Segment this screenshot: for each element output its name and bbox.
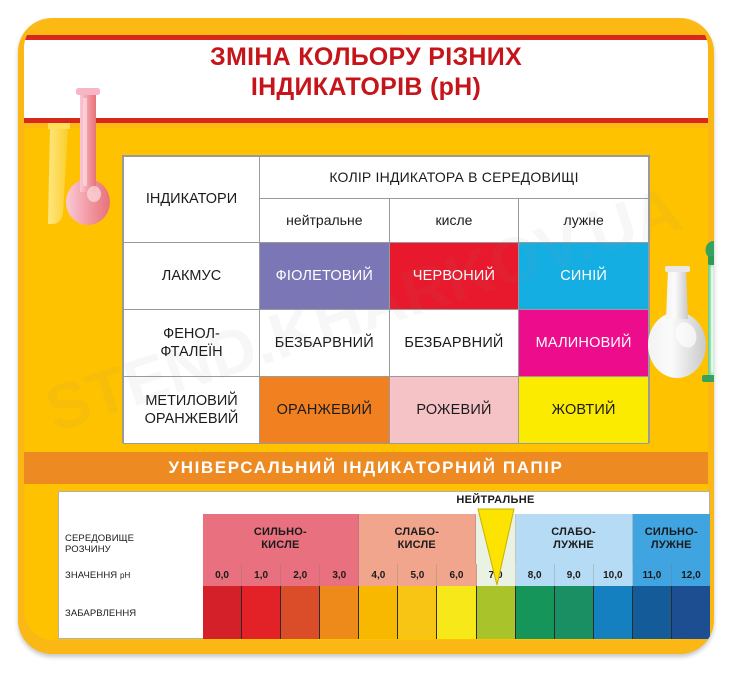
row-label-litmus-text: ЛАКМУС xyxy=(162,268,221,284)
cell-phenolphthalein-alkali: МАЛИНОВИЙ xyxy=(519,310,649,377)
ph-row-label-medium: СЕРЕДОВИЩЕРОЗЧИНУ xyxy=(65,533,134,555)
ph-band-2 xyxy=(476,514,516,564)
cell-methyl-orange-alkali: ЖОВТИЙ xyxy=(519,377,649,444)
header-cell-acid: кисле xyxy=(389,199,519,243)
ph-swatch-10-0 xyxy=(594,586,633,639)
ph-swatch-0-0 xyxy=(203,586,242,639)
cell-litmus-acid: ЧЕРВОНИЙ xyxy=(389,243,519,310)
title-top-orange-stripe xyxy=(24,18,708,35)
header-indicators-label: ІНДИКАТОРИ xyxy=(146,191,237,207)
section-banner-text: УНІВЕРСАЛЬНИЙ ІНДИКАТОРНИЙ ПАПІР xyxy=(169,458,564,478)
ph-scale-panel: СЕРЕДОВИЩЕРОЗЧИНУ ЗНАЧЕННЯ pH ЗАБАРВЛЕНН… xyxy=(58,491,710,639)
ph-value-10-0: 10,0 xyxy=(594,564,633,586)
title-line-1: ЗМІНА КОЛЬОРУ РІЗНИХ xyxy=(24,42,708,72)
table-row: ЛАКМУС ФІОЛЕТОВИЙ ЧЕРВОНИЙ СИНІЙ xyxy=(124,243,649,310)
ph-band-4: СИЛЬНО-ЛУЖНЕ xyxy=(633,514,710,564)
title-band: ЗМІНА КОЛЬОРУ РІЗНИХ ІНДИКАТОРІВ (pH) xyxy=(24,18,708,128)
ph-swatch-7-0 xyxy=(477,586,516,639)
row-label-litmus: ЛАКМУС xyxy=(124,243,260,310)
table-row: МЕТИЛОВИЙОРАНЖЕВИЙ ОРАНЖЕВИЙ РОЖЕВИЙ ЖОВ… xyxy=(124,377,649,444)
ph-swatch-8-0 xyxy=(516,586,555,639)
ph-swatch-1-0 xyxy=(242,586,281,639)
ph-swatch-9-0 xyxy=(555,586,594,639)
ph-value-row: 0,01,02,03,04,05,06,07,08,09,010,011,012… xyxy=(203,564,710,586)
table-row: ФЕНОЛ-ФТАЛЕЇН БЕЗБАРВНИЙ БЕЗБАРВНИЙ МАЛИ… xyxy=(124,310,649,377)
title-bottom-orange-stripe xyxy=(24,123,708,128)
ph-band-row: СИЛЬНО-КИСЛЕСЛАБО-КИСЛЕСЛАБО-ЛУЖНЕСИЛЬНО… xyxy=(203,514,710,564)
ph-swatch-12-0 xyxy=(672,586,710,639)
neutral-marker-label: НЕЙТРАЛЬНЕ xyxy=(421,494,571,506)
header-cell-indicators: ІНДИКАТОРИ xyxy=(124,157,260,243)
ph-swatch-3-0 xyxy=(320,586,359,639)
ph-swatch-4-0 xyxy=(359,586,398,639)
ph-value-7-0: 7,0 xyxy=(477,564,516,586)
indicator-table: ІНДИКАТОРИ КОЛІР ІНДИКАТОРА В СЕРЕДОВИЩІ… xyxy=(123,156,649,444)
ph-row-label-value: ЗНАЧЕННЯ pH xyxy=(65,570,130,581)
ph-value-11-0: 11,0 xyxy=(633,564,672,586)
ph-value-4-0: 4,0 xyxy=(359,564,398,586)
title-top-red-stripe xyxy=(24,35,708,40)
ph-value-3-0: 3,0 xyxy=(320,564,359,586)
ph-swatch-row xyxy=(203,586,710,639)
ph-value-0-0: 0,0 xyxy=(203,564,242,586)
ph-value-2-0: 2,0 xyxy=(281,564,320,586)
ph-band-1: СЛАБО-КИСЛЕ xyxy=(359,514,476,564)
indicator-table-body: ІНДИКАТОРИ КОЛІР ІНДИКАТОРА В СЕРЕДОВИЩІ… xyxy=(124,157,649,444)
ph-swatch-2-0 xyxy=(281,586,320,639)
header-cell-neutral: нейтральне xyxy=(260,199,390,243)
cell-litmus-neutral: ФІОЛЕТОВИЙ xyxy=(260,243,390,310)
cell-litmus-alkali: СИНІЙ xyxy=(519,243,649,310)
table-header-row-group: ІНДИКАТОРИ КОЛІР ІНДИКАТОРА В СЕРЕДОВИЩІ xyxy=(124,157,649,199)
title-line-2: ІНДИКАТОРІВ (pH) xyxy=(24,72,708,102)
ph-row-label-value-sub: pH xyxy=(120,571,130,580)
section-banner: УНІВЕРСАЛЬНИЙ ІНДИКАТОРНИЙ ПАПІР xyxy=(24,452,708,484)
cell-methyl-orange-acid: РОЖЕВИЙ xyxy=(389,377,519,444)
ph-swatch-11-0 xyxy=(633,586,672,639)
header-cell-alkali: лужне xyxy=(519,199,649,243)
row-label-methyl-orange: МЕТИЛОВИЙОРАНЖЕВИЙ xyxy=(124,377,260,444)
cell-methyl-orange-neutral: ОРАНЖЕВИЙ xyxy=(260,377,390,444)
cell-phenolphthalein-acid: БЕЗБАРВНИЙ xyxy=(389,310,519,377)
ph-value-8-0: 8,0 xyxy=(516,564,555,586)
ph-band-3: СЛАБО-ЛУЖНЕ xyxy=(516,514,633,564)
ph-swatch-5-0 xyxy=(398,586,437,639)
indicator-table-container: ІНДИКАТОРИ КОЛІР ІНДИКАТОРА В СЕРЕДОВИЩІ… xyxy=(122,155,650,443)
ph-band-0: СИЛЬНО-КИСЛЕ xyxy=(203,514,359,564)
ph-value-1-0: 1,0 xyxy=(242,564,281,586)
ph-swatch-6-0 xyxy=(437,586,476,639)
poster-board: ЗМІНА КОЛЬОРУ РІЗНИХ ІНДИКАТОРІВ (pH) xyxy=(18,18,714,654)
ph-value-5-0: 5,0 xyxy=(398,564,437,586)
row-label-phenolphthalein: ФЕНОЛ-ФТАЛЕЇН xyxy=(124,310,260,377)
ph-value-9-0: 9,0 xyxy=(555,564,594,586)
ph-row-label-colour: ЗАБАРВЛЕННЯ xyxy=(65,608,136,619)
header-cell-group: КОЛІР ІНДИКАТОРА В СЕРЕДОВИЩІ xyxy=(260,157,649,199)
row-label-phenolphthalein-text: ФЕНОЛ-ФТАЛЕЇН xyxy=(160,326,222,360)
ph-row-label-value-main: ЗНАЧЕННЯ xyxy=(65,570,120,581)
page-title: ЗМІНА КОЛЬОРУ РІЗНИХ ІНДИКАТОРІВ (pH) xyxy=(24,42,708,102)
ph-value-12-0: 12,0 xyxy=(672,564,710,586)
cell-phenolphthalein-neutral: БЕЗБАРВНИЙ xyxy=(260,310,390,377)
ph-value-6-0: 6,0 xyxy=(437,564,476,586)
row-label-methyl-orange-text: МЕТИЛОВИЙОРАНЖЕВИЙ xyxy=(145,393,239,427)
